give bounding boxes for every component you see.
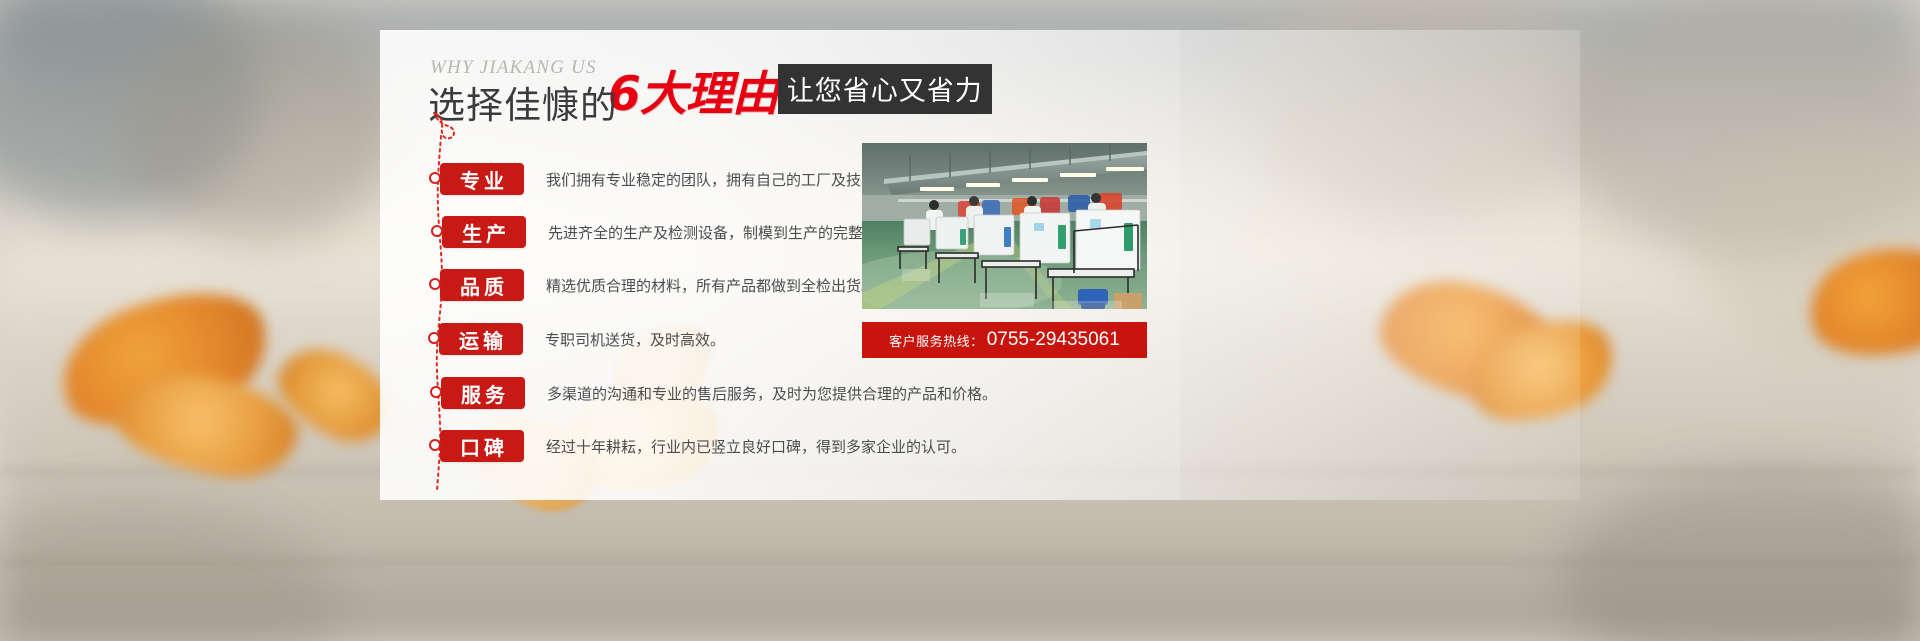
section-heading: WHY JIAKANG US 选择佳慷的 6大理由 让您省心又省力 xyxy=(428,57,992,115)
reason-badge: 生产 xyxy=(442,216,526,248)
list-item[interactable]: 口碑 经过十年耕耘，行业内已竖立良好口碑，得到多家企业的认可。 xyxy=(440,429,966,463)
list-item[interactable]: 专业 我们拥有专业稳定的团队，拥有自己的工厂及技术。 xyxy=(440,162,891,196)
list-item[interactable]: 运输 专职司机送货，及时高效。 xyxy=(439,322,725,356)
reason-description: 专职司机送货，及时高效。 xyxy=(545,329,725,350)
reason-badge: 口碑 xyxy=(440,430,524,462)
reason-badge: 专业 xyxy=(440,163,524,195)
hotline-label: 客户服务热线： xyxy=(889,331,984,350)
reason-badge: 品质 xyxy=(440,269,524,301)
timeline-dot-icon xyxy=(430,386,442,398)
hotline-bar: 客户服务热线： 0755-29435061 xyxy=(862,322,1147,358)
list-item[interactable]: 品质 精选优质合理的材料，所有产品都做到全检出货。 xyxy=(440,268,876,302)
timeline-dot-icon xyxy=(429,172,441,184)
reason-description: 多渠道的沟通和专业的售后服务，及时为您提供合理的产品和价格。 xyxy=(547,383,997,404)
hotline-number[interactable]: 0755-29435061 xyxy=(987,329,1120,351)
heading-chinese-prefix: 选择佳慷的 xyxy=(428,75,618,129)
reason-description: 先进齐全的生产及检测设备，制模到生产的完整工艺。 xyxy=(548,222,908,243)
factory-photo xyxy=(862,143,1147,309)
factory-photo-inner xyxy=(862,143,1147,309)
list-item[interactable]: 服务 多渠道的沟通和专业的售后服务，及时为您提供合理的产品和价格。 xyxy=(441,376,997,410)
timeline-dot-icon xyxy=(429,439,441,451)
reason-badge: 服务 xyxy=(441,377,525,409)
timeline-dot-icon xyxy=(429,278,441,290)
timeline-dot-icon xyxy=(428,332,440,344)
reason-description: 我们拥有专业稳定的团队，拥有自己的工厂及技术。 xyxy=(546,169,891,190)
reason-description: 经过十年耕耘，行业内已竖立良好口碑，得到多家企业的认可。 xyxy=(546,436,966,457)
reason-description: 精选优质合理的材料，所有产品都做到全检出货。 xyxy=(546,275,876,296)
heading-highlight: 6大理由 xyxy=(608,72,778,117)
factory-photo-illustration xyxy=(862,143,1147,309)
heading-tagline: 让您省心又省力 xyxy=(778,64,992,114)
content-layer: WHY JIAKANG US 选择佳慷的 6大理由 让您省心又省力 专业 我们拥… xyxy=(0,0,1920,641)
list-item[interactable]: 生产 先进齐全的生产及检测设备，制模到生产的完整工艺。 xyxy=(442,215,908,249)
reason-badge: 运输 xyxy=(439,323,523,355)
timeline-dot-icon xyxy=(431,225,443,237)
